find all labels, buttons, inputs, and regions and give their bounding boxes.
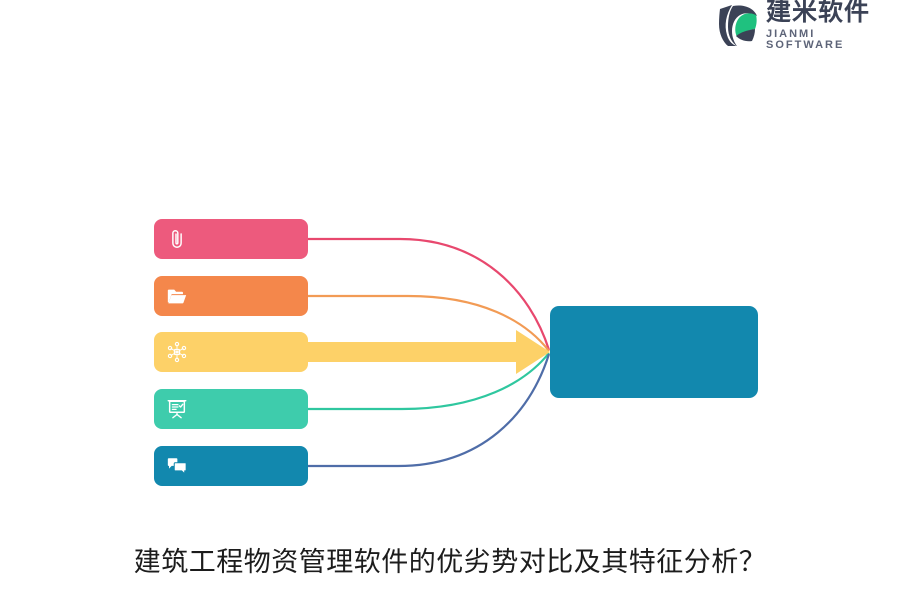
network-hub-icon xyxy=(166,341,188,363)
source-bar-attachment[interactable] xyxy=(154,219,308,259)
source-bar-network[interactable] xyxy=(154,332,308,372)
presentation-board-icon xyxy=(166,398,188,420)
folder-open-icon xyxy=(166,285,188,307)
source-bar-folder[interactable] xyxy=(154,276,308,316)
target-box[interactable] xyxy=(550,306,758,398)
source-bar-presentation[interactable] xyxy=(154,389,308,429)
source-bar-chat[interactable] xyxy=(154,446,308,486)
connector-attachment xyxy=(308,239,549,350)
connector-network-arrow xyxy=(300,330,550,374)
paperclip-icon xyxy=(166,228,188,250)
connector-lines xyxy=(0,0,900,600)
page-caption: 建筑工程物资管理软件的优劣势对比及其特征分析？ xyxy=(0,540,900,579)
flow-diagram xyxy=(0,0,900,600)
chat-bubbles-icon xyxy=(166,455,188,477)
